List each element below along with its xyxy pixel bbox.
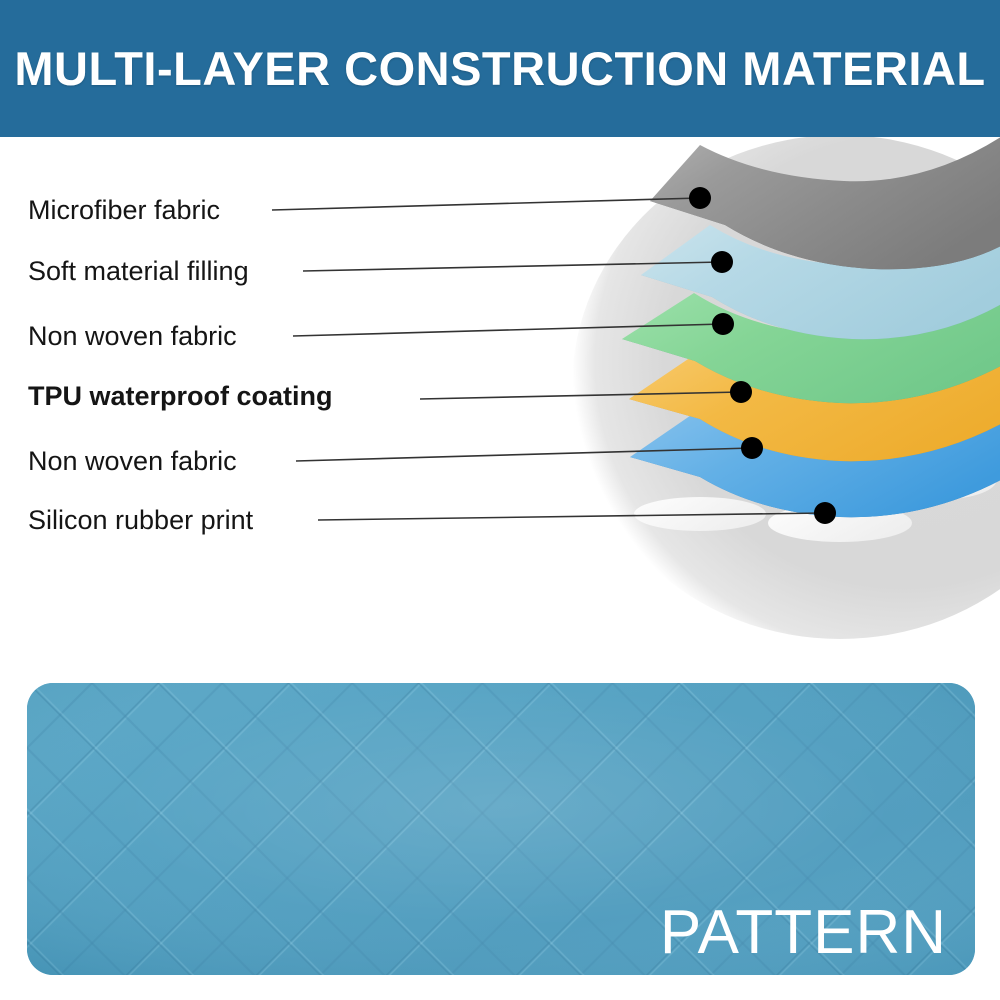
- layer-label-non-woven-fabric-lower: Non woven fabric: [28, 448, 237, 475]
- layer-label-microfiber-fabric: Microfiber fabric: [28, 197, 220, 224]
- product-infographic: MULTI-LAYER CONSTRUCTION MATERIAL: [0, 0, 1000, 1000]
- layer-label-silicon-rubber-print: Silicon rubber print: [28, 507, 253, 534]
- pattern-photo: PATTERN: [27, 683, 975, 975]
- leader-dot-6: [814, 502, 836, 524]
- layer-label-soft-material-filling: Soft material filling: [28, 258, 249, 285]
- layer-diagram: Microfiber fabric Soft material filling …: [0, 137, 1000, 657]
- layer-label-tpu-waterproof-coating: TPU waterproof coating: [28, 383, 333, 410]
- pattern-caption: PATTERN: [660, 899, 947, 967]
- header-band: MULTI-LAYER CONSTRUCTION MATERIAL: [0, 0, 1000, 137]
- leader-dot-2: [711, 251, 733, 273]
- page-title: MULTI-LAYER CONSTRUCTION MATERIAL: [0, 0, 1000, 137]
- leader-dot-3: [712, 313, 734, 335]
- layer-label-non-woven-fabric-upper: Non woven fabric: [28, 323, 237, 350]
- leader-dot-5: [741, 437, 763, 459]
- leader-dot-4: [730, 381, 752, 403]
- leader-dot-1: [689, 187, 711, 209]
- leader-line-1: [272, 198, 700, 210]
